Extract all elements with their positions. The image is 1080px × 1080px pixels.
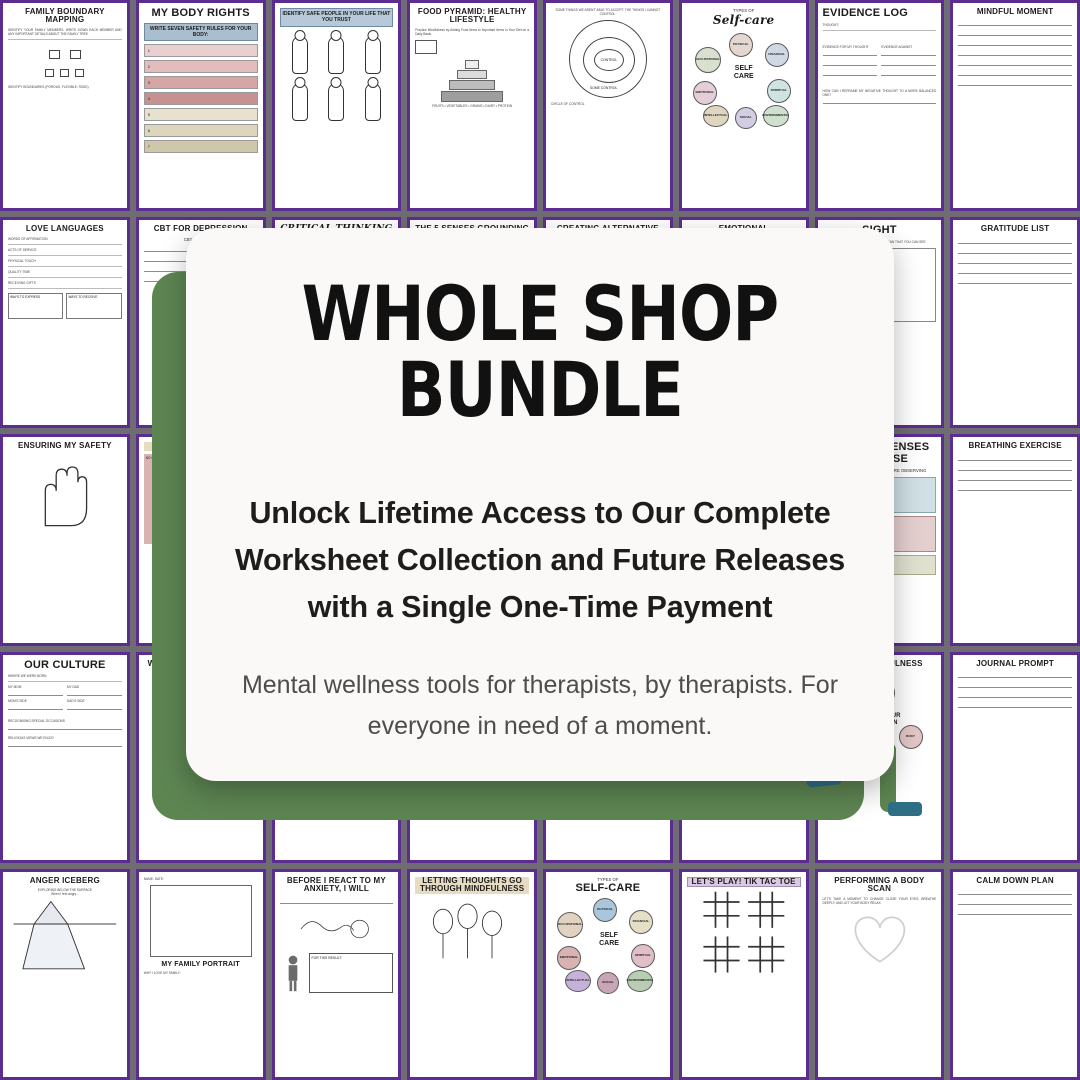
person-figure <box>328 36 344 74</box>
worksheet-card[interactable]: TYPES OF SELF-CARE PHYSICAL FINANCIAL OC… <box>543 869 673 1080</box>
worksheet-title: CALM DOWN PLAN <box>958 877 1072 885</box>
worksheet-card[interactable]: LOVE LANGUAGES WORDS OF AFFIRMATION ACTS… <box>0 217 130 428</box>
worksheet-subtitle: WHERE WE WERE BORN <box>8 674 122 678</box>
worksheet-card[interactable]: LETTING THOUGHTS GO THROUGH MINDFULNESS <box>407 869 537 1080</box>
worksheet-title: SELF-CARE <box>551 883 665 895</box>
worksheet-subtitle: NAME: DATE: <box>144 877 258 881</box>
worksheet-title: GRATITUDE LIST <box>958 225 1072 233</box>
person-figure <box>292 36 308 74</box>
worksheet-note: WHY I LOVE MY FAMILY: <box>144 971 258 975</box>
promo-subtext: Mental wellness tools for therapists, by… <box>220 665 860 748</box>
person-figure <box>365 36 381 74</box>
worksheet-card[interactable]: JOURNAL PROMPT <box>950 652 1080 863</box>
rule-row: 4 <box>144 92 258 105</box>
worksheet-title: MY BODY RIGHTS <box>144 8 258 20</box>
worksheet-title: Self-care <box>687 14 801 27</box>
worksheet-subtitle: SOME THINGS WE AREN'T ABLE TO ACCEPT. TH… <box>551 8 665 16</box>
worksheet-card[interactable]: SOME THINGS WE AREN'T ABLE TO ACCEPT. TH… <box>543 0 673 211</box>
worksheet-title: MINDFUL MOMENT <box>958 8 1072 16</box>
worksheet-card[interactable]: FOOD PYRAMID: HEALTHY LIFESTYLE Practice… <box>407 0 537 211</box>
worksheet-card[interactable]: TYPES OF Self-care PHYSICAL FINANCIAL OC… <box>679 0 809 211</box>
worksheet-card[interactable]: LET'S PLAY! TIK TAC TOE <box>679 869 809 1080</box>
worksheet-title: OUR CULTURE <box>8 660 122 672</box>
worksheet-title: ENSURING MY SAFETY <box>8 442 122 450</box>
divider <box>823 30 937 31</box>
worksheet-title: IDENTIFY SAFE PEOPLE IN YOUR LIFE THAT Y… <box>280 8 394 27</box>
figure-icon <box>280 953 306 993</box>
person-figure <box>365 83 381 121</box>
worksheet-card[interactable]: ANGER ICEBERG EXPLORING BELOW THE SURFAC… <box>0 869 130 1080</box>
worksheet-card[interactable]: FAMILY BOUNDARY MAPPING IDENTIFY YOUR FA… <box>0 0 130 211</box>
worksheet-title: PERFORMING A BODY SCAN <box>823 877 937 894</box>
worksheet-subtitle: WRITE SEVEN SAFETY RULES FOR YOUR BODY: <box>144 23 258 42</box>
worksheet-card[interactable]: BREATHING EXERCISE <box>950 434 1080 645</box>
worksheet-title: CIRCLE OF CONTROL <box>551 102 665 106</box>
screenshot-stage: FAMILY BOUNDARY MAPPING IDENTIFY YOUR FA… <box>0 0 1080 1080</box>
worksheet-subtitle: IDENTIFY YOUR FAMILY MEMBERS. WRITE DOWN… <box>8 28 122 36</box>
worksheet-card[interactable]: EVIDENCE LOG THOUGHT: EVIDENCE FOR MY TH… <box>815 0 945 211</box>
worksheet-card[interactable]: PERFORMING A BODY SCAN LET'S TAKE A MOME… <box>815 869 945 1080</box>
worksheet-card[interactable]: CALM DOWN PLAN <box>950 869 1080 1080</box>
worksheet-title: BREATHING EXERCISE <box>958 442 1072 450</box>
worksheet-title: LET'S PLAY! TIK TAC TOE <box>687 877 801 887</box>
worksheet-title: EVIDENCE LOG <box>823 8 937 20</box>
worksheet-card[interactable]: NAME: DATE: MY FAMILY PORTRAIT WHY I LOV… <box>136 869 266 1080</box>
iceberg-icon <box>8 896 122 980</box>
worksheet-card[interactable]: GRATITUDE LIST <box>950 217 1080 428</box>
green-accent-shape <box>888 802 922 816</box>
rule-row: 5 <box>144 108 258 121</box>
people-row <box>282 36 392 74</box>
promo-modal: WHOLE SHOP BUNDLE Unlock Lifetime Access… <box>186 228 894 781</box>
worksheet-subtitle: Practice Mindfulness by Adding Food Item… <box>415 28 529 36</box>
people-row <box>282 83 392 121</box>
worksheet-card[interactable]: BEFORE I REACT TO MY ANXIETY, I WILL FOR… <box>272 869 402 1080</box>
person-figure <box>292 83 308 121</box>
rule-row: 3 <box>144 76 258 89</box>
rule-row: 6 <box>144 124 258 137</box>
rule-row: 7 <box>144 140 258 153</box>
worksheet-card[interactable]: MINDFUL MOMENT <box>950 0 1080 211</box>
worksheet-subtitle: LET'S TAKE A MOMENT TO CHANGE CLOSE YOUR… <box>823 897 937 905</box>
scribble-icon <box>280 907 394 951</box>
worksheet-subtitle: THOUGHT: <box>823 23 937 27</box>
worksheet-card[interactable]: MY BODY RIGHTS WRITE SEVEN SAFETY RULES … <box>136 0 266 211</box>
worksheet-card[interactable]: IDENTIFY SAFE PEOPLE IN YOUR LIFE THAT Y… <box>272 0 402 211</box>
worksheet-title: FOOD PYRAMID: HEALTHY LIFESTYLE <box>415 8 529 25</box>
person-figure <box>328 83 344 121</box>
hand-icon <box>8 454 122 530</box>
worksheet-title: LOVE LANGUAGES <box>8 225 122 233</box>
worksheet-card[interactable]: OUR CULTURE WHERE WE WERE BORN MY MOMMY … <box>0 652 130 863</box>
worksheet-title: ANGER ICEBERG <box>8 877 122 885</box>
worksheet-note: IDENTIFY BOUNDARIES (POROUS, FLEXIBLE, R… <box>8 85 122 89</box>
divider <box>8 39 122 40</box>
promo-headline: Unlock Lifetime Access to Our Complete W… <box>220 490 860 631</box>
heart-icon <box>823 905 937 967</box>
worksheet-title: MY FAMILY PORTRAIT <box>144 961 258 968</box>
worksheet-note: FRUITS • VEGETABLES • GRAINS • DAIRY • P… <box>415 104 529 108</box>
worksheet-title: JOURNAL PROMPT <box>958 660 1072 668</box>
rule-row: 2 <box>144 60 258 73</box>
rule-row: 1 <box>144 44 258 57</box>
worksheet-title: BEFORE I REACT TO MY ANXIETY, I WILL <box>280 877 394 894</box>
worksheet-card[interactable]: ENSURING MY SAFETY <box>0 434 130 645</box>
worksheet-title: FAMILY BOUNDARY MAPPING <box>8 8 122 25</box>
page-title: WHOLE SHOP BUNDLE <box>271 276 809 428</box>
worksheet-title: LETTING THOUGHTS GO THROUGH MINDFULNESS <box>415 877 529 894</box>
balloons-icon <box>415 897 529 967</box>
tic-tac-toe-grid <box>687 890 801 976</box>
